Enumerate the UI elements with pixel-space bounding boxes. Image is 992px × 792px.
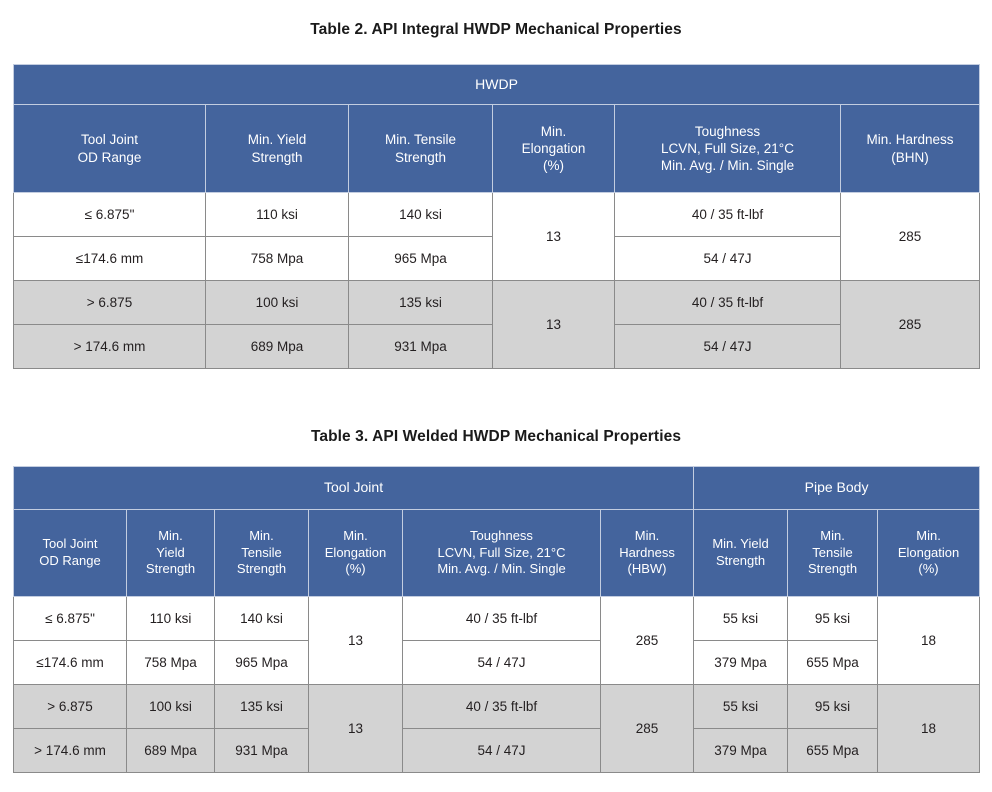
cell-toughness: 54 / 47J xyxy=(403,729,601,773)
cell-od-range: > 6.875 xyxy=(14,685,127,729)
cell-tj-min-tensile: 965 Mpa xyxy=(215,641,309,685)
hdr-line: Tensile xyxy=(812,545,852,560)
hdr-line: Min. xyxy=(343,528,368,543)
table2-api-integral-hwdp: HWDP Tool Joint OD Range Min. Yield Stre… xyxy=(13,64,980,369)
hdr-line: Strength xyxy=(808,561,857,576)
cell-min-yield: 689 Mpa xyxy=(206,325,349,369)
table2-col-min-tensile-strength: Min. Tensile Strength xyxy=(349,105,493,193)
cell-tj-min-yield: 100 ksi xyxy=(127,685,215,729)
cell-min-tensile: 140 ksi xyxy=(349,193,493,237)
cell-pb-min-elongation: 18 xyxy=(878,685,980,773)
hdr-line: (BHN) xyxy=(891,150,929,165)
cell-tj-min-tensile: 931 Mpa xyxy=(215,729,309,773)
cell-min-hardness: 285 xyxy=(841,281,980,369)
cell-min-yield: 100 ksi xyxy=(206,281,349,325)
cell-min-hardness: 285 xyxy=(601,685,694,773)
cell-min-tensile: 135 ksi xyxy=(349,281,493,325)
hdr-line: Min. Hardness xyxy=(867,132,954,147)
cell-min-yield: 110 ksi xyxy=(206,193,349,237)
cell-pb-min-yield: 55 ksi xyxy=(694,597,788,641)
cell-pb-min-elongation: 18 xyxy=(878,597,980,685)
cell-toughness: 40 / 35 ft-lbf xyxy=(615,193,841,237)
hdr-line: OD Range xyxy=(39,553,100,568)
cell-tj-min-tensile: 140 ksi xyxy=(215,597,309,641)
cell-min-hardness: 285 xyxy=(601,597,694,685)
cell-pb-min-tensile: 655 Mpa xyxy=(788,729,878,773)
table3-group-header-pipe-body: Pipe Body xyxy=(694,467,980,510)
table3-col-tj-min-tensile-strength: Min. Tensile Strength xyxy=(215,510,309,597)
hdr-line: Min. Avg. / Min. Single xyxy=(437,561,565,576)
table2-title: Table 2. API Integral HWDP Mechanical Pr… xyxy=(0,21,992,39)
cell-min-tensile: 931 Mpa xyxy=(349,325,493,369)
hdr-line: Strength xyxy=(716,553,765,568)
cell-min-elongation: 13 xyxy=(493,281,615,369)
cell-tj-min-tensile: 135 ksi xyxy=(215,685,309,729)
hdr-line: Min. xyxy=(635,528,660,543)
table-row: > 6.875 100 ksi 135 ksi 13 40 / 35 ft-lb… xyxy=(14,281,980,325)
table3-api-welded-hwdp: Tool Joint Pipe Body Tool Joint OD Range… xyxy=(13,466,980,773)
table3-col-pb-min-tensile-strength: Min. Tensile Strength xyxy=(788,510,878,597)
cell-toughness: 40 / 35 ft-lbf xyxy=(403,685,601,729)
hdr-line: LCVN, Full Size, 21°C xyxy=(661,141,794,156)
hdr-line: (%) xyxy=(345,561,365,576)
cell-tj-min-yield: 110 ksi xyxy=(127,597,215,641)
cell-tj-min-yield: 758 Mpa xyxy=(127,641,215,685)
cell-toughness: 40 / 35 ft-lbf xyxy=(615,281,841,325)
table2-col-min-hardness: Min. Hardness (BHN) xyxy=(841,105,980,193)
table3-col-tj-min-elongation: Min. Elongation (%) xyxy=(309,510,403,597)
cell-toughness: 54 / 47J xyxy=(615,325,841,369)
hdr-line: LCVN, Full Size, 21°C xyxy=(437,545,565,560)
table3-col-tj-min-yield-strength: Min. Yield Strength xyxy=(127,510,215,597)
document-page: Table 2. API Integral HWDP Mechanical Pr… xyxy=(0,0,992,792)
hdr-line: OD Range xyxy=(78,150,142,165)
hdr-line: Tool Joint xyxy=(43,536,98,551)
table-row: > 174.6 mm 689 Mpa 931 Mpa 54 / 47J 379 … xyxy=(14,729,980,773)
cell-min-elongation: 13 xyxy=(493,193,615,281)
cell-od-range: > 6.875 xyxy=(14,281,206,325)
hdr-line: Min. Yield xyxy=(712,536,768,551)
hdr-line: Min. Avg. / Min. Single xyxy=(661,158,794,173)
hdr-line: Elongation xyxy=(325,545,386,560)
cell-od-range: ≤ 6.875" xyxy=(14,597,127,641)
cell-od-range: ≤174.6 mm xyxy=(14,641,127,685)
hdr-line: Tool Joint xyxy=(81,132,138,147)
cell-pb-min-yield: 55 ksi xyxy=(694,685,788,729)
hdr-line: Yield xyxy=(156,545,184,560)
table-row: > 6.875 100 ksi 135 ksi 13 40 / 35 ft-lb… xyxy=(14,685,980,729)
table2-group-header-hwdp: HWDP xyxy=(14,65,980,105)
cell-od-range: ≤ 6.875" xyxy=(14,193,206,237)
table3-col-tool-joint-od-range: Tool Joint OD Range xyxy=(14,510,127,597)
table3-col-pb-min-elongation: Min. Elongation (%) xyxy=(878,510,980,597)
cell-toughness: 54 / 47J xyxy=(615,237,841,281)
hdr-line: Min. xyxy=(249,528,274,543)
cell-pb-min-tensile: 655 Mpa xyxy=(788,641,878,685)
table2-col-min-elongation: Min. Elongation (%) xyxy=(493,105,615,193)
hdr-line: (%) xyxy=(918,561,938,576)
cell-min-yield: 758 Mpa xyxy=(206,237,349,281)
cell-toughness: 40 / 35 ft-lbf xyxy=(403,597,601,641)
cell-pb-min-tensile: 95 ksi xyxy=(788,597,878,641)
hdr-line: Toughness xyxy=(695,124,760,139)
hdr-line: Min. xyxy=(916,528,941,543)
hdr-line: Tensile xyxy=(241,545,281,560)
hdr-line: Strength xyxy=(251,150,302,165)
table3-col-pb-min-yield-strength: Min. Yield Strength xyxy=(694,510,788,597)
hdr-line: (HBW) xyxy=(628,561,667,576)
table2-col-tool-joint-od-range: Tool Joint OD Range xyxy=(14,105,206,193)
cell-tj-min-yield: 689 Mpa xyxy=(127,729,215,773)
cell-min-tensile: 965 Mpa xyxy=(349,237,493,281)
cell-pb-min-yield: 379 Mpa xyxy=(694,641,788,685)
hdr-line: (%) xyxy=(543,158,564,173)
cell-pb-min-tensile: 95 ksi xyxy=(788,685,878,729)
cell-tj-min-elongation: 13 xyxy=(309,685,403,773)
table2-col-toughness: Toughness LCVN, Full Size, 21°C Min. Avg… xyxy=(615,105,841,193)
hdr-line: Min. xyxy=(820,528,845,543)
cell-pb-min-yield: 379 Mpa xyxy=(694,729,788,773)
table2-group-header-row: HWDP xyxy=(14,65,980,105)
cell-tj-min-elongation: 13 xyxy=(309,597,403,685)
hdr-line: Min. xyxy=(158,528,183,543)
cell-od-range: > 174.6 mm xyxy=(14,729,127,773)
hdr-line: Hardness xyxy=(619,545,675,560)
cell-min-hardness: 285 xyxy=(841,193,980,281)
table2-column-header-row: Tool Joint OD Range Min. Yield Strength … xyxy=(14,105,980,193)
table3-column-header-row: Tool Joint OD Range Min. Yield Strength … xyxy=(14,510,980,597)
hdr-line: Strength xyxy=(146,561,195,576)
hdr-line: Min. Tensile xyxy=(385,132,456,147)
table-row: ≤ 6.875" 110 ksi 140 ksi 13 40 / 35 ft-l… xyxy=(14,597,980,641)
table-row: ≤174.6 mm 758 Mpa 965 Mpa 54 / 47J 379 M… xyxy=(14,641,980,685)
hdr-line: Strength xyxy=(237,561,286,576)
table3-group-header-row: Tool Joint Pipe Body xyxy=(14,467,980,510)
cell-toughness: 54 / 47J xyxy=(403,641,601,685)
cell-od-range: ≤174.6 mm xyxy=(14,237,206,281)
hdr-line: Elongation xyxy=(522,141,586,156)
table3-title: Table 3. API Welded HWDP Mechanical Prop… xyxy=(0,428,992,446)
cell-od-range: > 174.6 mm xyxy=(14,325,206,369)
hdr-line: Toughness xyxy=(470,528,533,543)
table3-col-min-hardness: Min. Hardness (HBW) xyxy=(601,510,694,597)
hdr-line: Strength xyxy=(395,150,446,165)
hdr-line: Elongation xyxy=(898,545,959,560)
hdr-line: Min. xyxy=(541,124,567,139)
table-row: ≤ 6.875" 110 ksi 140 ksi 13 40 / 35 ft-l… xyxy=(14,193,980,237)
hdr-line: Min. Yield xyxy=(248,132,307,147)
table2-col-min-yield-strength: Min. Yield Strength xyxy=(206,105,349,193)
table3-col-toughness: Toughness LCVN, Full Size, 21°C Min. Avg… xyxy=(403,510,601,597)
table3-group-header-tool-joint: Tool Joint xyxy=(14,467,694,510)
